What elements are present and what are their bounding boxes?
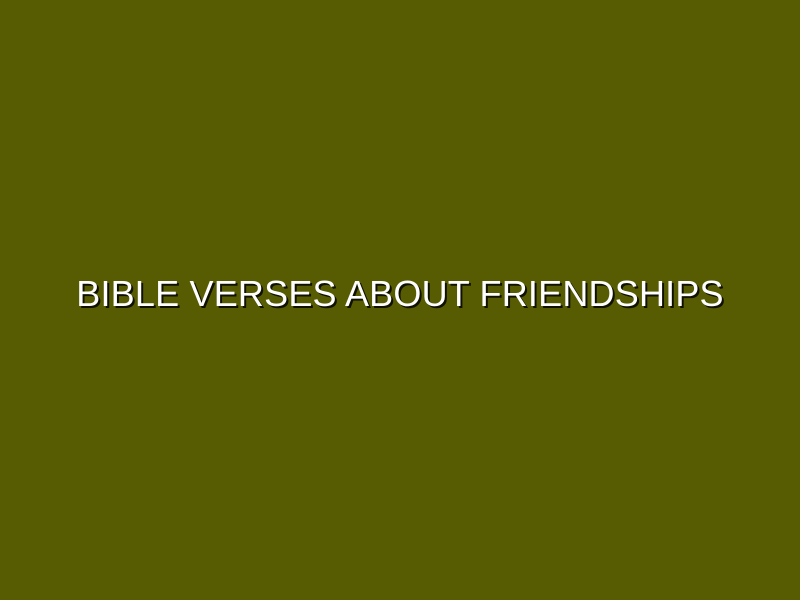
title-card: BIBLE VERSES ABOUT FRIENDSHIPS [0,0,800,600]
page-title: BIBLE VERSES ABOUT FRIENDSHIPS [76,274,724,314]
